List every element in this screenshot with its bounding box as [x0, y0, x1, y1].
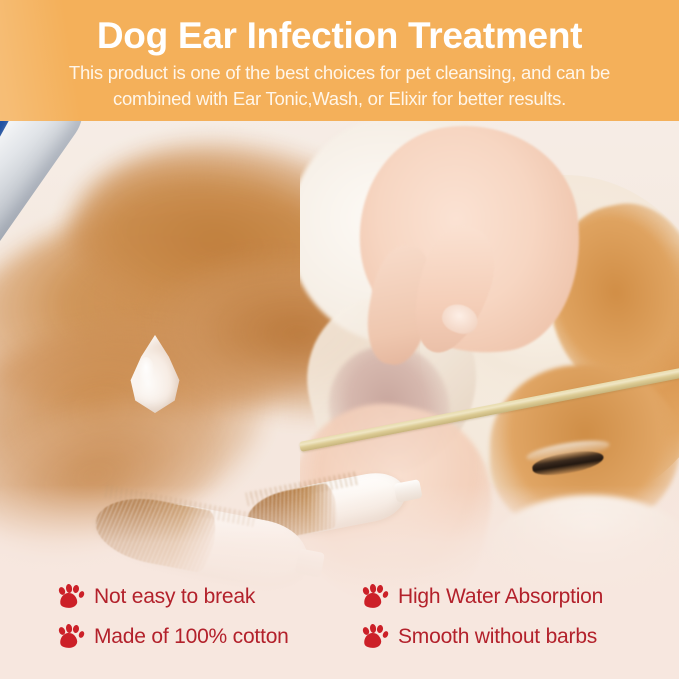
paw-print-icon [58, 624, 84, 649]
subtitle-line-1: This product is one of the best choices … [0, 60, 679, 86]
feature-label: Made of 100% cotton [94, 625, 289, 649]
feature-label: High Water Absorption [398, 585, 603, 609]
product-photo [0, 105, 679, 605]
paw-print-icon [58, 584, 84, 609]
feature-label: Smooth without barbs [398, 625, 597, 649]
paw-print-icon [362, 584, 388, 609]
feature-label: Not easy to break [94, 585, 255, 609]
feature-item-made-of-cotton: Made of 100% cotton [58, 624, 289, 649]
feature-item-not-easy-to-break: Not easy to break [58, 584, 255, 609]
header-banner: Dog Ear Infection Treatment This product… [0, 0, 679, 121]
product-image: Dog Ear Infection Treatment This product… [0, 0, 679, 679]
feature-item-high-water-absorption: High Water Absorption [362, 584, 603, 609]
subtitle-line-2: combined with Ear Tonic,Wash, or Elixir … [0, 86, 679, 112]
feature-item-smooth-without-barbs: Smooth without barbs [362, 624, 597, 649]
page-subtitle: This product is one of the best choices … [0, 60, 679, 112]
feature-list: Not easy to break Made of 100% cotton Hi… [0, 578, 679, 679]
page-title: Dog Ear Infection Treatment [0, 14, 679, 58]
droplet-highlight [138, 357, 154, 383]
paw-print-icon [362, 624, 388, 649]
